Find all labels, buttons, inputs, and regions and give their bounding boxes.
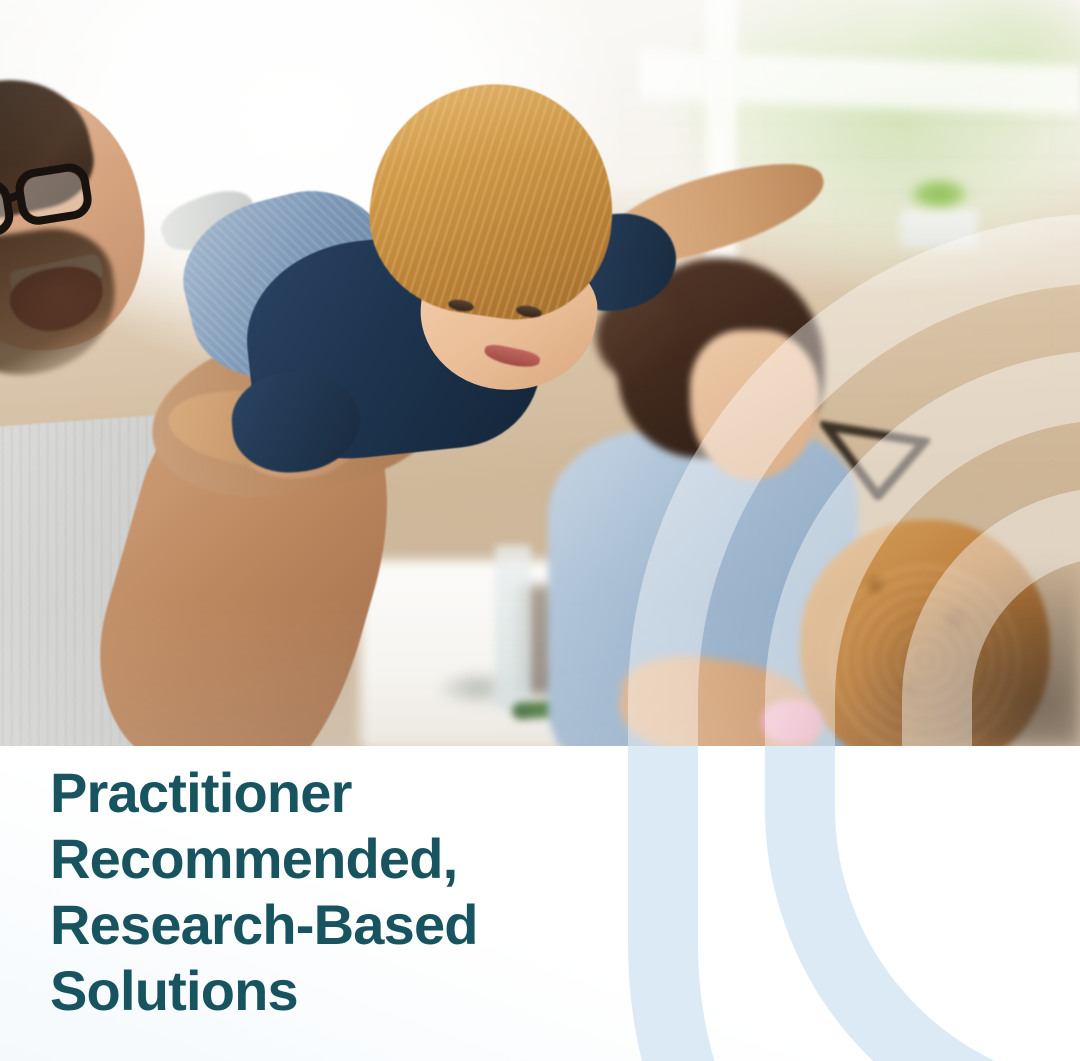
potted-plant xyxy=(900,178,978,248)
promo-poster: Practitioner Recommended, Research-Based… xyxy=(0,0,1080,1061)
page-title: Practitioner Recommended, Research-Based… xyxy=(50,760,670,1024)
hero-photo xyxy=(0,0,1080,746)
drinking-glass xyxy=(495,545,531,710)
background-shadow xyxy=(780,486,1080,746)
caption-band: Practitioner Recommended, Research-Based… xyxy=(0,746,1080,1061)
